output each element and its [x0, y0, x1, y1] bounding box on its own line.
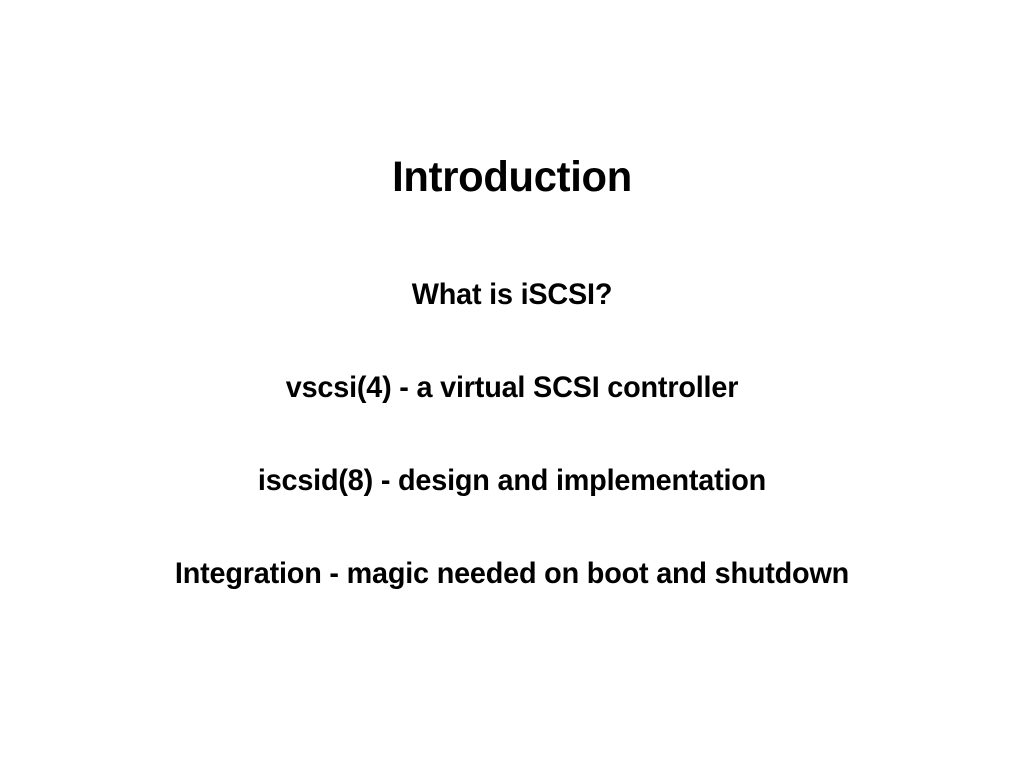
- presentation-slide: Introduction What is iSCSI? vscsi(4) - a…: [0, 0, 1024, 768]
- slide-body-line-1: What is iSCSI?: [20, 274, 1003, 367]
- slide-body-line-4: Integration - magic needed on boot and s…: [20, 553, 1003, 646]
- slide-body-line-2: vscsi(4) - a virtual SCSI controller: [20, 367, 1003, 460]
- slide-body-line-3: iscsid(8) - design and implementation: [20, 460, 1003, 553]
- slide-body: What is iSCSI? vscsi(4) - a virtual SCSI…: [0, 274, 1024, 646]
- page-title: Introduction: [15, 152, 1008, 203]
